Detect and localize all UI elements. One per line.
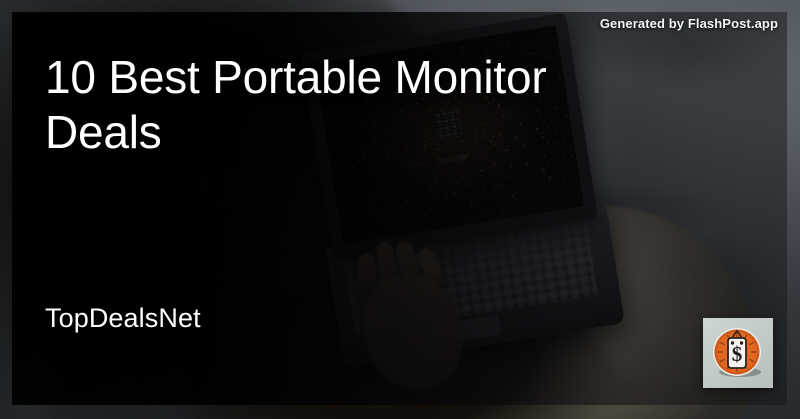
- page-title: 10 Best Portable Monitor Deals: [45, 50, 645, 159]
- social-share-card: Generated by FlashPost.app 10 Best Porta…: [0, 0, 800, 419]
- attribution-label: Generated by FlashPost.app: [600, 16, 778, 31]
- dollar-symbol: $: [732, 342, 743, 366]
- logo-badge: $ $: [703, 318, 773, 388]
- brand-name: TopDealsNet: [45, 303, 201, 334]
- price-tag-dollar-badge-icon: $: [709, 324, 767, 382]
